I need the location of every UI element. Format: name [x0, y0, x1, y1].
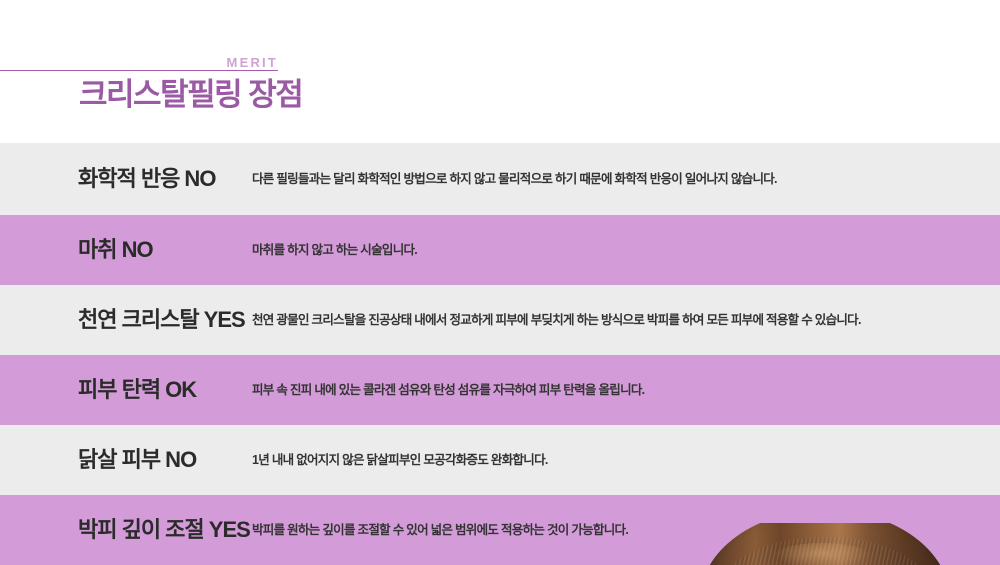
merit-description: 박피를 원하는 깊이를 조절할 수 있어 넓은 범위에도 적용하는 것이 가능합…: [252, 522, 628, 538]
merit-description: 천연 광물인 크리스탈을 진공상태 내에서 정교하게 피부에 부딪치게 하는 방…: [252, 312, 861, 328]
merit-description: 1년 내내 없어지지 않은 닭살피부인 모공각화증도 완화합니다.: [252, 452, 548, 468]
merit-row-content: 마취 NO 마취를 하지 않고 하는 시술입니다.: [0, 215, 1000, 285]
merit-row-content: 천연 크리스탈 YES 천연 광물인 크리스탈을 진공상태 내에서 정교하게 피…: [0, 285, 1000, 355]
merit-row: 박피 깊이 조절 YES 박피를 원하는 깊이를 조절할 수 있어 넓은 범위에…: [0, 495, 1000, 565]
section-header: MERIT 크리스탈필링 장점: [0, 0, 1000, 143]
merit-term: 마취 NO: [78, 237, 153, 263]
page-title: 크리스탈필링 장점: [79, 76, 302, 114]
merit-description: 다른 필링들과는 달리 화학적인 방법으로 하지 않고 물리적으로 하기 때문에…: [252, 171, 777, 187]
merit-term: 피부 탄력 OK: [78, 377, 196, 403]
merit-row: 천연 크리스탈 YES 천연 광물인 크리스탈을 진공상태 내에서 정교하게 피…: [0, 285, 1000, 355]
merit-section-page: MERIT 크리스탈필링 장점 화학적 반응 NO 다른 필링들과는 달리 화학…: [0, 0, 1000, 565]
header-eyebrow: MERIT: [0, 56, 278, 70]
merit-term: 닭살 피부 NO: [78, 447, 196, 473]
merit-description: 마취를 하지 않고 하는 시술입니다.: [252, 242, 417, 258]
merit-row: 화학적 반응 NO 다른 필링들과는 달리 화학적인 방법으로 하지 않고 물리…: [0, 143, 1000, 215]
merit-row-content: 박피 깊이 조절 YES 박피를 원하는 깊이를 조절할 수 있어 넓은 범위에…: [0, 495, 1000, 565]
merit-row-content: 피부 탄력 OK 피부 속 진피 내에 있는 콜라겐 섬유와 탄성 섬유를 자극…: [0, 355, 1000, 425]
merit-row: 닭살 피부 NO 1년 내내 없어지지 않은 닭살피부인 모공각화증도 완화합니…: [0, 425, 1000, 495]
merit-row: 피부 탄력 OK 피부 속 진피 내에 있는 콜라겐 섬유와 탄성 섬유를 자극…: [0, 355, 1000, 425]
merit-term: 화학적 반응 NO: [78, 166, 215, 192]
merit-term: 박피 깊이 조절 YES: [78, 517, 250, 543]
merit-term: 천연 크리스탈 YES: [78, 307, 245, 333]
merit-description: 피부 속 진피 내에 있는 콜라겐 섬유와 탄성 섬유를 자극하여 피부 탄력을…: [252, 382, 644, 398]
merit-row: 마취 NO 마취를 하지 않고 하는 시술입니다.: [0, 215, 1000, 285]
header-rule: [0, 70, 278, 71]
merit-row-content: 화학적 반응 NO 다른 필링들과는 달리 화학적인 방법으로 하지 않고 물리…: [0, 143, 1000, 215]
merit-row-content: 닭살 피부 NO 1년 내내 없어지지 않은 닭살피부인 모공각화증도 완화합니…: [0, 425, 1000, 495]
